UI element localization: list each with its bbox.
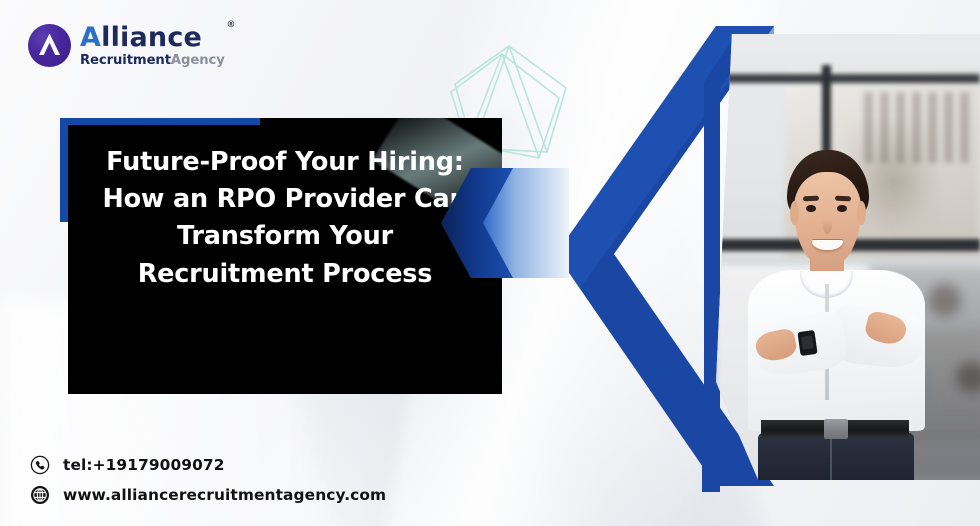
phone-icon xyxy=(30,455,50,475)
contact-phone-label: tel:+19179009072 xyxy=(63,456,225,474)
brand-name-secondary: RecruitmentAgency xyxy=(80,54,225,67)
contact-website[interactable]: www.alliancerecruitmentagency.com xyxy=(30,485,386,505)
contact-list: tel:+19179009072 www.alliancerecruitment… xyxy=(30,455,386,505)
marketing-banner: Alliance ® RecruitmentAgency xyxy=(0,0,980,526)
title-card-accent-top xyxy=(60,118,260,125)
brand-name-rest: lliance xyxy=(101,22,202,53)
person-smartwatch xyxy=(798,330,818,356)
registered-trademark-icon: ® xyxy=(227,21,236,30)
person-belt-buckle xyxy=(824,419,848,440)
hero-photo xyxy=(716,34,980,480)
contact-phone[interactable]: tel:+19179009072 xyxy=(30,455,386,475)
title-card: Future-Proof Your Hiring: How an RPO Pro… xyxy=(68,118,502,394)
person-ear-left xyxy=(790,201,799,225)
person-eye-left xyxy=(806,205,816,212)
person-jeans xyxy=(758,433,914,480)
person-eye-right xyxy=(837,205,847,212)
globe-icon xyxy=(30,485,50,505)
photo-person xyxy=(716,34,980,480)
hero-photo-image xyxy=(716,34,980,480)
page-title: Future-Proof Your Hiring: How an RPO Pro… xyxy=(68,144,502,293)
person-ear-right xyxy=(857,201,866,225)
accent-chevron-shape xyxy=(441,168,569,278)
person-nose xyxy=(823,218,832,234)
brand-wordmark: Alliance ® RecruitmentAgency xyxy=(80,24,225,67)
brand-logo[interactable]: Alliance ® RecruitmentAgency xyxy=(28,24,225,67)
brand-recruitment-word: Recruitment xyxy=(80,53,171,68)
brand-name-primary: Alliance ® xyxy=(80,24,225,51)
brand-agency-word: Agency xyxy=(171,53,225,68)
brand-name-initial: A xyxy=(80,22,101,53)
contact-website-label: www.alliancerecruitmentagency.com xyxy=(63,486,386,504)
alliance-a-monogram-icon xyxy=(28,24,71,67)
